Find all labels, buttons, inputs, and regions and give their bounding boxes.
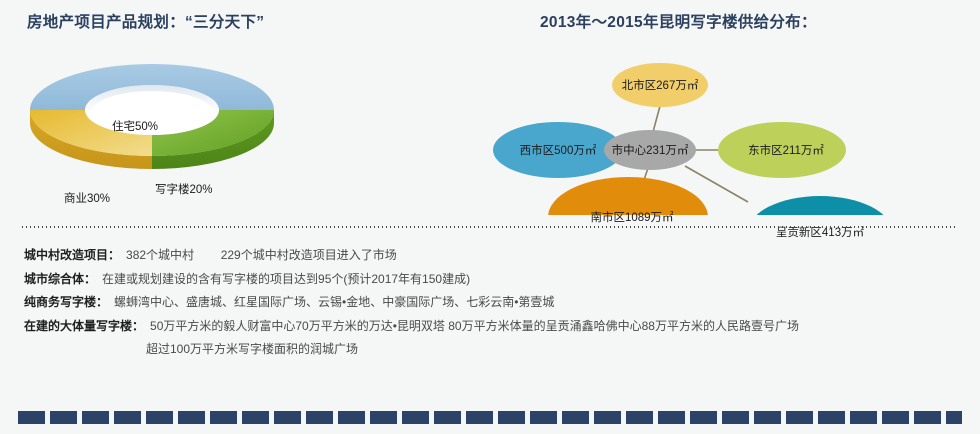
page-title-right: 2013年～2015年昆明写字楼供给分布： xyxy=(540,10,817,32)
note-value-large-office: 50万平方米的毅人财富中心70万平方米的万达•昆明双塔 80万平方米体量的呈贡涌… xyxy=(150,317,799,335)
node-north[interactable] xyxy=(612,63,708,107)
note-continuation-large-office: 超过100万平方米写字楼面积的润城广场 xyxy=(146,340,964,358)
donut-chart-svg xyxy=(22,55,282,170)
notes-list: 城中村改造项目： 382个城中村 229个城中村改造项目进入了市场 城市综合体：… xyxy=(24,246,964,358)
node-east[interactable] xyxy=(718,122,846,178)
donut-label-residential: 住宅50% xyxy=(112,118,158,134)
note-key-village: 城中村改造项目： xyxy=(24,246,120,264)
slide-canvas: 房地产项目产品规划：“三分天下” xyxy=(0,0,980,434)
connector-center-north xyxy=(653,106,660,132)
note-value-complex: 在建或规划建设的含有写字楼的项目达到95个(预计2017年有150建成) xyxy=(102,270,470,288)
node-center[interactable] xyxy=(604,130,696,170)
node-west[interactable] xyxy=(493,122,623,178)
note-row-large-office: 在建的大体量写字楼： 50万平方米的毅人财富中心70万平方米的万达•昆明双塔 8… xyxy=(24,317,964,335)
note-row-village: 城中村改造项目： 382个城中村 229个城中村改造项目进入了市场 xyxy=(24,246,964,264)
section-divider xyxy=(22,226,958,228)
note-key-pure-office: 纯商务写字楼： xyxy=(24,293,108,311)
donut-label-office: 写字楼20% xyxy=(155,181,213,197)
note-key-large-office: 在建的大体量写字楼： xyxy=(24,317,144,335)
note-row-pure-office: 纯商务写字楼： 螺蛳湾中心、盛唐城、红星国际广场、云锡•金地、中豪国际广场、七彩… xyxy=(24,293,964,311)
page-title-left: 房地产项目产品规划：“三分天下” xyxy=(27,10,264,32)
bottom-decoration-bar xyxy=(18,411,962,424)
note-value-village: 382个城中村 229个城中村改造项目进入了市场 xyxy=(126,246,397,264)
donut-chart: 住宅50% 商业30% 写字楼20% xyxy=(22,55,282,170)
node-chenggong[interactable] xyxy=(748,196,892,215)
note-key-complex: 城市综合体： xyxy=(24,270,96,288)
supply-distribution-svg xyxy=(480,40,980,215)
note-row-complex: 城市综合体： 在建或规划建设的含有写字楼的项目达到95个(预计2017年有150… xyxy=(24,270,964,288)
node-south[interactable] xyxy=(548,177,708,215)
donut-label-commercial: 商业30% xyxy=(64,190,110,206)
supply-distribution-diagram: 北市区267万㎡ 西市区500万㎡ 市中心231万㎡ 东市区211万㎡ 南市区1… xyxy=(480,40,980,215)
note-value-pure-office: 螺蛳湾中心、盛唐城、红星国际广场、云锡•金地、中豪国际广场、七彩云南•第壹城 xyxy=(114,293,554,311)
